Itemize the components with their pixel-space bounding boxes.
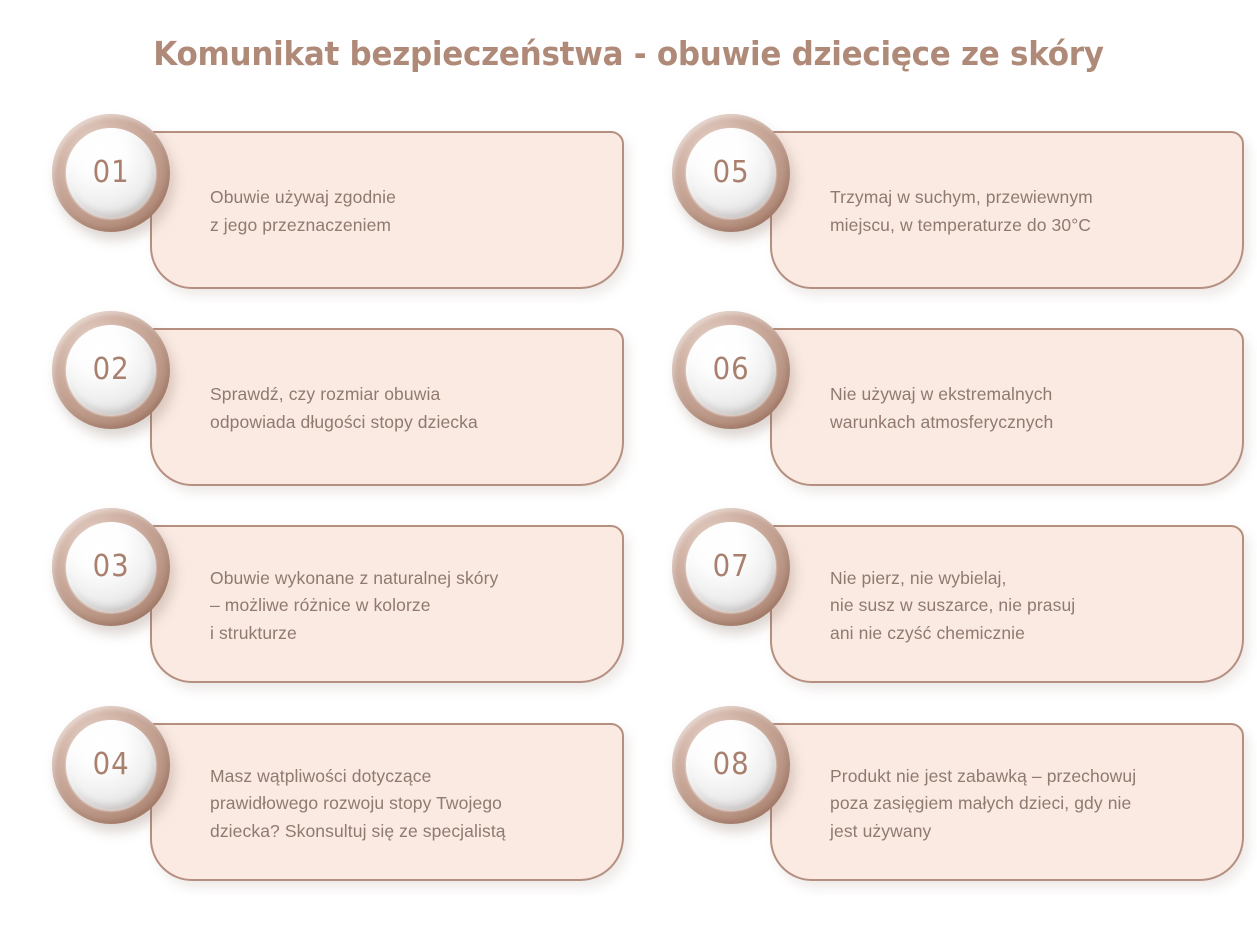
tip-card-01: Obuwie używaj zgodnie z jego przeznaczen…	[52, 114, 624, 290]
tip-number-disc: 06	[686, 325, 776, 415]
tip-number-disc: 04	[66, 720, 156, 810]
infographic-page: Komunikat bezpieczeństwa - obuwie dzieci…	[0, 0, 1257, 941]
tip-number-label: 01	[93, 155, 130, 190]
tip-text: Nie pierz, nie wybielaj, nie susz w susz…	[830, 527, 1230, 685]
tip-card-06: Nie używaj w ekstremalnych warunkach atm…	[672, 311, 1244, 487]
tip-number-disc: 05	[686, 128, 776, 218]
tip-card-panel: Obuwie wykonane z naturalnej skóry – moż…	[150, 525, 624, 683]
tip-card-panel: Masz wątpliwości dotyczące prawidłowego …	[150, 723, 624, 881]
tip-text: Trzymaj w suchym, przewiewnym miejscu, w…	[830, 133, 1230, 291]
tip-card-02: Sprawdź, czy rozmiar obuwia odpowiada dł…	[52, 311, 624, 487]
tip-card-panel: Produkt nie jest zabawką – przechowuj po…	[770, 723, 1244, 881]
tip-text: Obuwie używaj zgodnie z jego przeznaczen…	[210, 133, 610, 291]
tip-number-disc: 07	[686, 522, 776, 612]
tip-card-07: Nie pierz, nie wybielaj, nie susz w susz…	[672, 508, 1244, 684]
tip-number-badge: 02	[52, 311, 170, 429]
tip-number-disc: 03	[66, 522, 156, 612]
safety-tips-grid: Obuwie używaj zgodnie z jego przeznaczen…	[0, 110, 1257, 940]
tip-card-panel: Obuwie używaj zgodnie z jego przeznaczen…	[150, 131, 624, 289]
tip-number-badge: 05	[672, 114, 790, 232]
tip-number-label: 07	[713, 549, 750, 584]
tip-number-badge: 07	[672, 508, 790, 626]
tip-number-badge: 04	[52, 706, 170, 824]
tip-card-panel: Sprawdź, czy rozmiar obuwia odpowiada dł…	[150, 328, 624, 486]
tip-number-label: 05	[713, 155, 750, 190]
tip-text: Obuwie wykonane z naturalnej skóry – moż…	[210, 527, 610, 685]
tip-card-03: Obuwie wykonane z naturalnej skóry – moż…	[52, 508, 624, 684]
tip-text: Produkt nie jest zabawką – przechowuj po…	[830, 725, 1230, 883]
tip-text: Sprawdź, czy rozmiar obuwia odpowiada dł…	[210, 330, 610, 488]
page-title: Komunikat bezpieczeństwa - obuwie dzieci…	[38, 34, 1220, 73]
tip-number-disc: 01	[66, 128, 156, 218]
tip-number-disc: 08	[686, 720, 776, 810]
tip-card-04: Masz wątpliwości dotyczące prawidłowego …	[52, 706, 624, 882]
tip-number-badge: 01	[52, 114, 170, 232]
tip-card-panel: Nie pierz, nie wybielaj, nie susz w susz…	[770, 525, 1244, 683]
tip-text: Nie używaj w ekstremalnych warunkach atm…	[830, 330, 1230, 488]
tip-text: Masz wątpliwości dotyczące prawidłowego …	[210, 725, 610, 883]
tip-number-label: 04	[93, 747, 130, 782]
tip-number-label: 02	[93, 352, 130, 387]
tip-number-label: 08	[713, 747, 750, 782]
tip-number-label: 03	[93, 549, 130, 584]
tip-number-label: 06	[713, 352, 750, 387]
tip-card-panel: Trzymaj w suchym, przewiewnym miejscu, w…	[770, 131, 1244, 289]
tip-card-05: Trzymaj w suchym, przewiewnym miejscu, w…	[672, 114, 1244, 290]
tip-number-badge: 06	[672, 311, 790, 429]
tip-card-08: Produkt nie jest zabawką – przechowuj po…	[672, 706, 1244, 882]
tip-number-disc: 02	[66, 325, 156, 415]
tip-number-badge: 03	[52, 508, 170, 626]
tip-number-badge: 08	[672, 706, 790, 824]
tip-card-panel: Nie używaj w ekstremalnych warunkach atm…	[770, 328, 1244, 486]
